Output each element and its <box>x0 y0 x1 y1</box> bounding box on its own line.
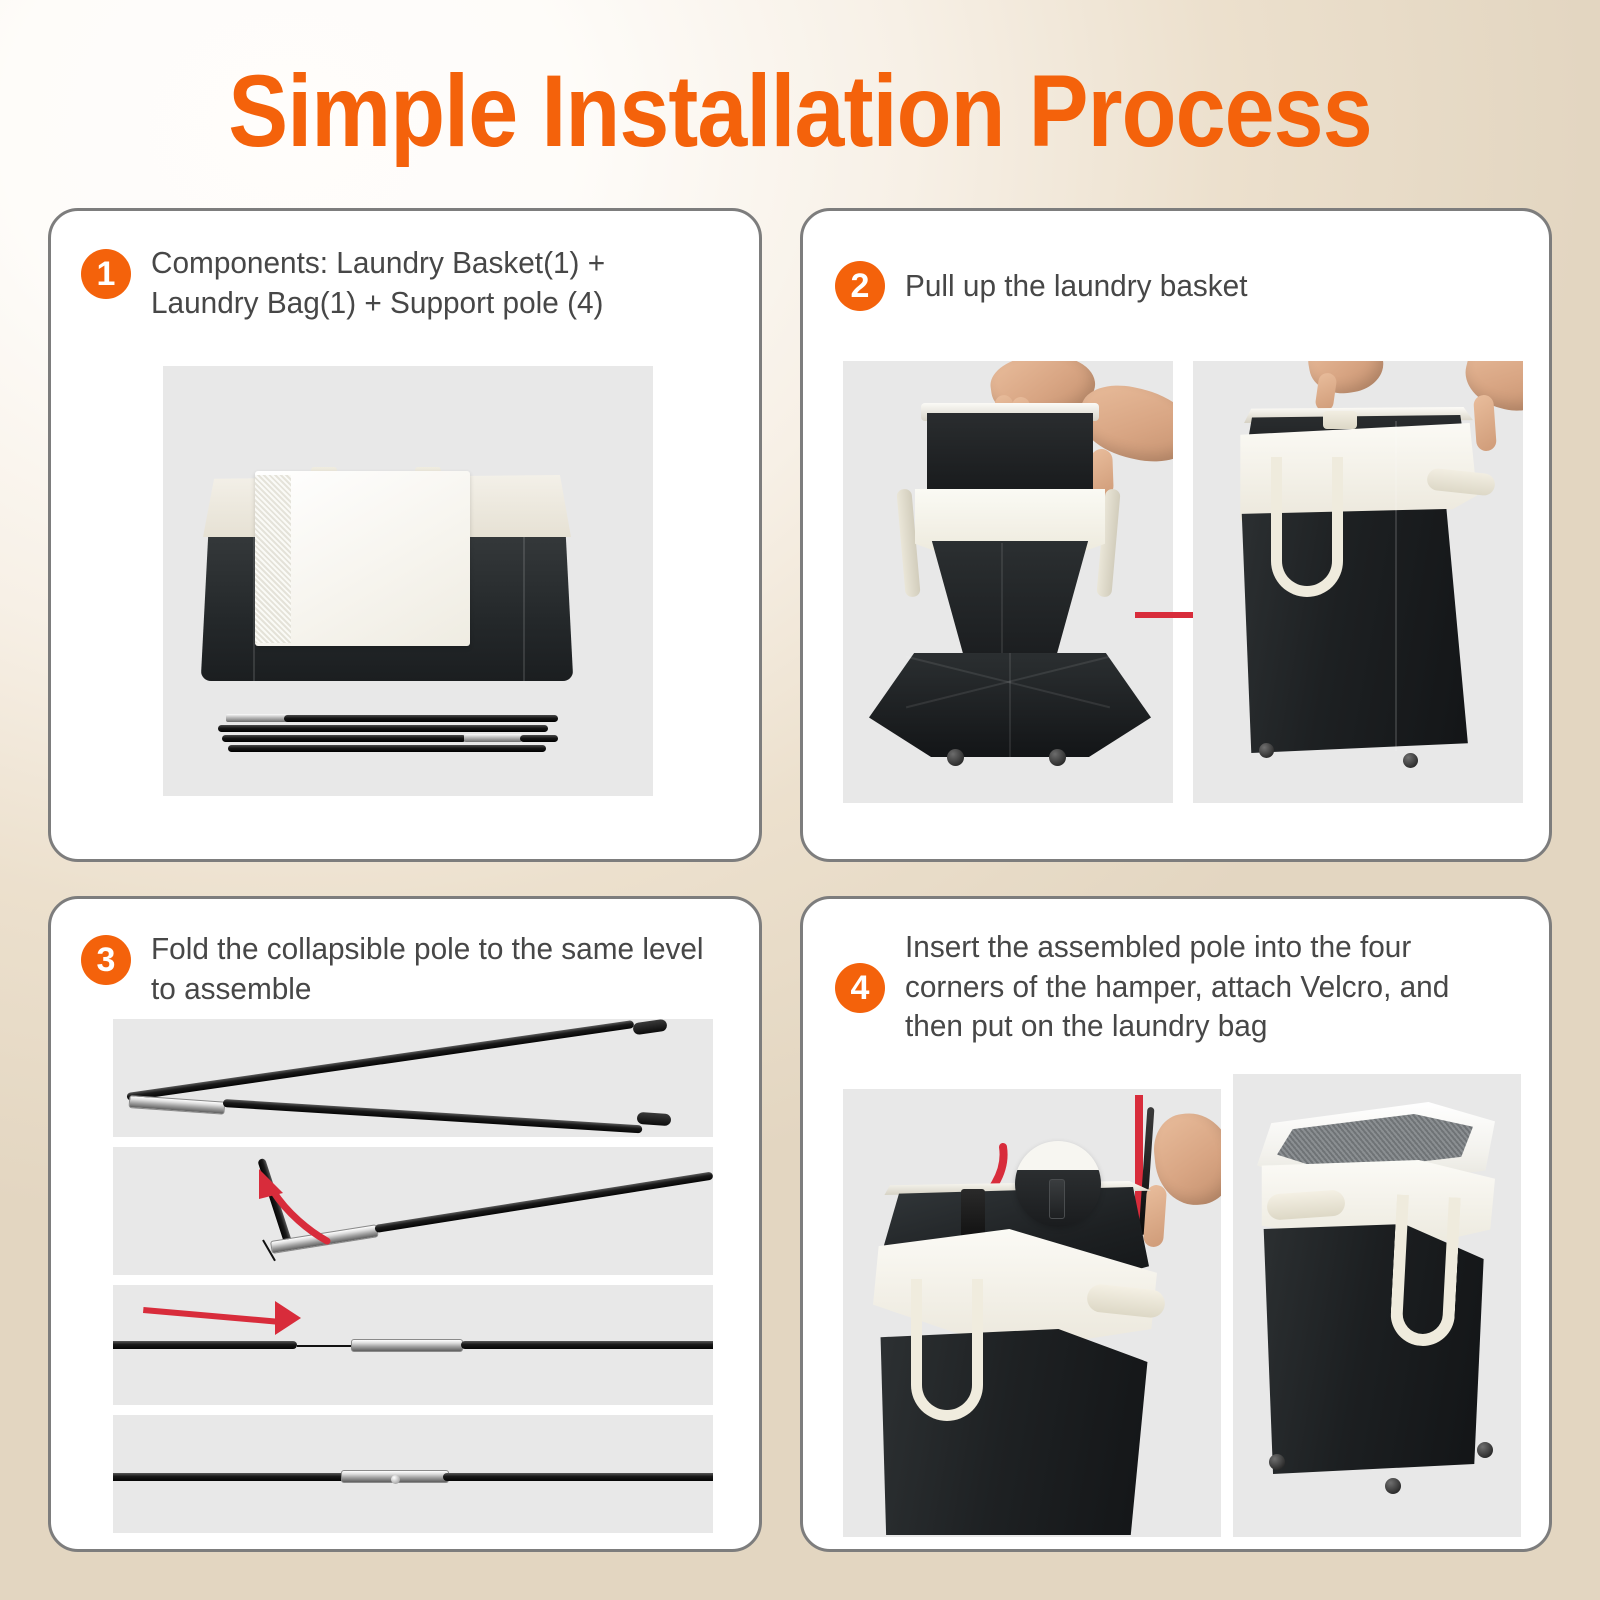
hamper-interior <box>927 413 1093 499</box>
folded-hamper-graphic <box>193 471 583 686</box>
hamper-handle <box>911 1279 983 1421</box>
step-panel-1: 1 Components: Laundry Basket(1) + Laundr… <box>48 208 762 862</box>
step-2-badge: 2 <box>835 261 885 311</box>
hamper-handle <box>1389 1194 1461 1347</box>
hamper-wheel <box>1477 1442 1493 1458</box>
step-3-header: 3 Fold the collapsible pole to the same … <box>81 929 741 1008</box>
finger <box>1473 394 1497 451</box>
step-1-header: 1 Components: Laundry Basket(1) + Laundr… <box>81 243 741 322</box>
step-1-text: Components: Laundry Basket(1) + Laundry … <box>151 243 717 322</box>
infographic-root: Simple Installation Process 1 Components… <box>0 0 1600 1600</box>
step-panel-3: 3 Fold the collapsible pole to the same … <box>48 896 762 1552</box>
ferrule-rivet <box>391 1475 400 1484</box>
image-inserting-pole-into-hamper-corner <box>843 1089 1221 1537</box>
hamper-wheel <box>1385 1478 1401 1494</box>
image-pole-fully-assembled <box>113 1415 713 1533</box>
finger <box>1143 1184 1167 1247</box>
step-panel-4: 4 Insert the assembled pole into the fou… <box>800 896 1552 1552</box>
hamper-handle <box>1271 457 1343 597</box>
image-pole-folded-in-half <box>113 1019 713 1137</box>
step-4-text: Insert the assembled pole into the four … <box>905 927 1510 1046</box>
support-poles-bundle <box>218 714 558 756</box>
laundry-bag-mesh-panel <box>255 475 291 643</box>
step-2-header: 2 Pull up the laundry basket <box>835 261 1525 311</box>
step-3-badge: 3 <box>81 935 131 985</box>
velcro-strap-closeup <box>1049 1179 1065 1219</box>
hamper-corner-edge <box>1395 421 1397 751</box>
hamper-wheel <box>1403 753 1418 768</box>
hamper-seam <box>523 531 525 681</box>
step-2-text: Pull up the laundry basket <box>905 266 1247 306</box>
image-finished-hamper-with-laundry-bag <box>1233 1074 1521 1537</box>
page-title: Simple Installation Process <box>96 58 1504 165</box>
image-pole-sections-sliding-together <box>113 1285 713 1405</box>
hamper-top-strap <box>1323 411 1357 429</box>
right-arrow-head <box>275 1301 301 1335</box>
step-4-badge: 4 <box>835 963 885 1013</box>
hamper-wheel <box>1269 1454 1285 1470</box>
hamper-wheel <box>1259 743 1274 758</box>
hamper-wheel <box>1049 749 1066 766</box>
image-upright-assembled-hamper <box>1193 361 1523 803</box>
fabric-fold <box>1009 653 1011 757</box>
hamper-black-body <box>1259 1224 1493 1474</box>
hamper-side-handle <box>1266 1189 1346 1220</box>
hamper-wheel <box>947 749 964 766</box>
right-arrow-line <box>143 1307 281 1325</box>
curved-up-arrow <box>239 1161 349 1253</box>
image-hands-pulling-up-collapsed-hamper <box>843 361 1173 803</box>
step-panel-2: 2 Pull up the laundry basket <box>800 208 1552 862</box>
step-4-header: 4 Insert the assembled pole into the fou… <box>835 927 1535 1046</box>
image-folded-hamper-and-poles <box>163 366 653 796</box>
step-3-text: Fold the collapsible pole to the same le… <box>151 929 717 1008</box>
velcro-detail-inset <box>1015 1141 1101 1227</box>
image-pole-bending-at-joint <box>113 1147 713 1275</box>
step-1-badge: 1 <box>81 249 131 299</box>
